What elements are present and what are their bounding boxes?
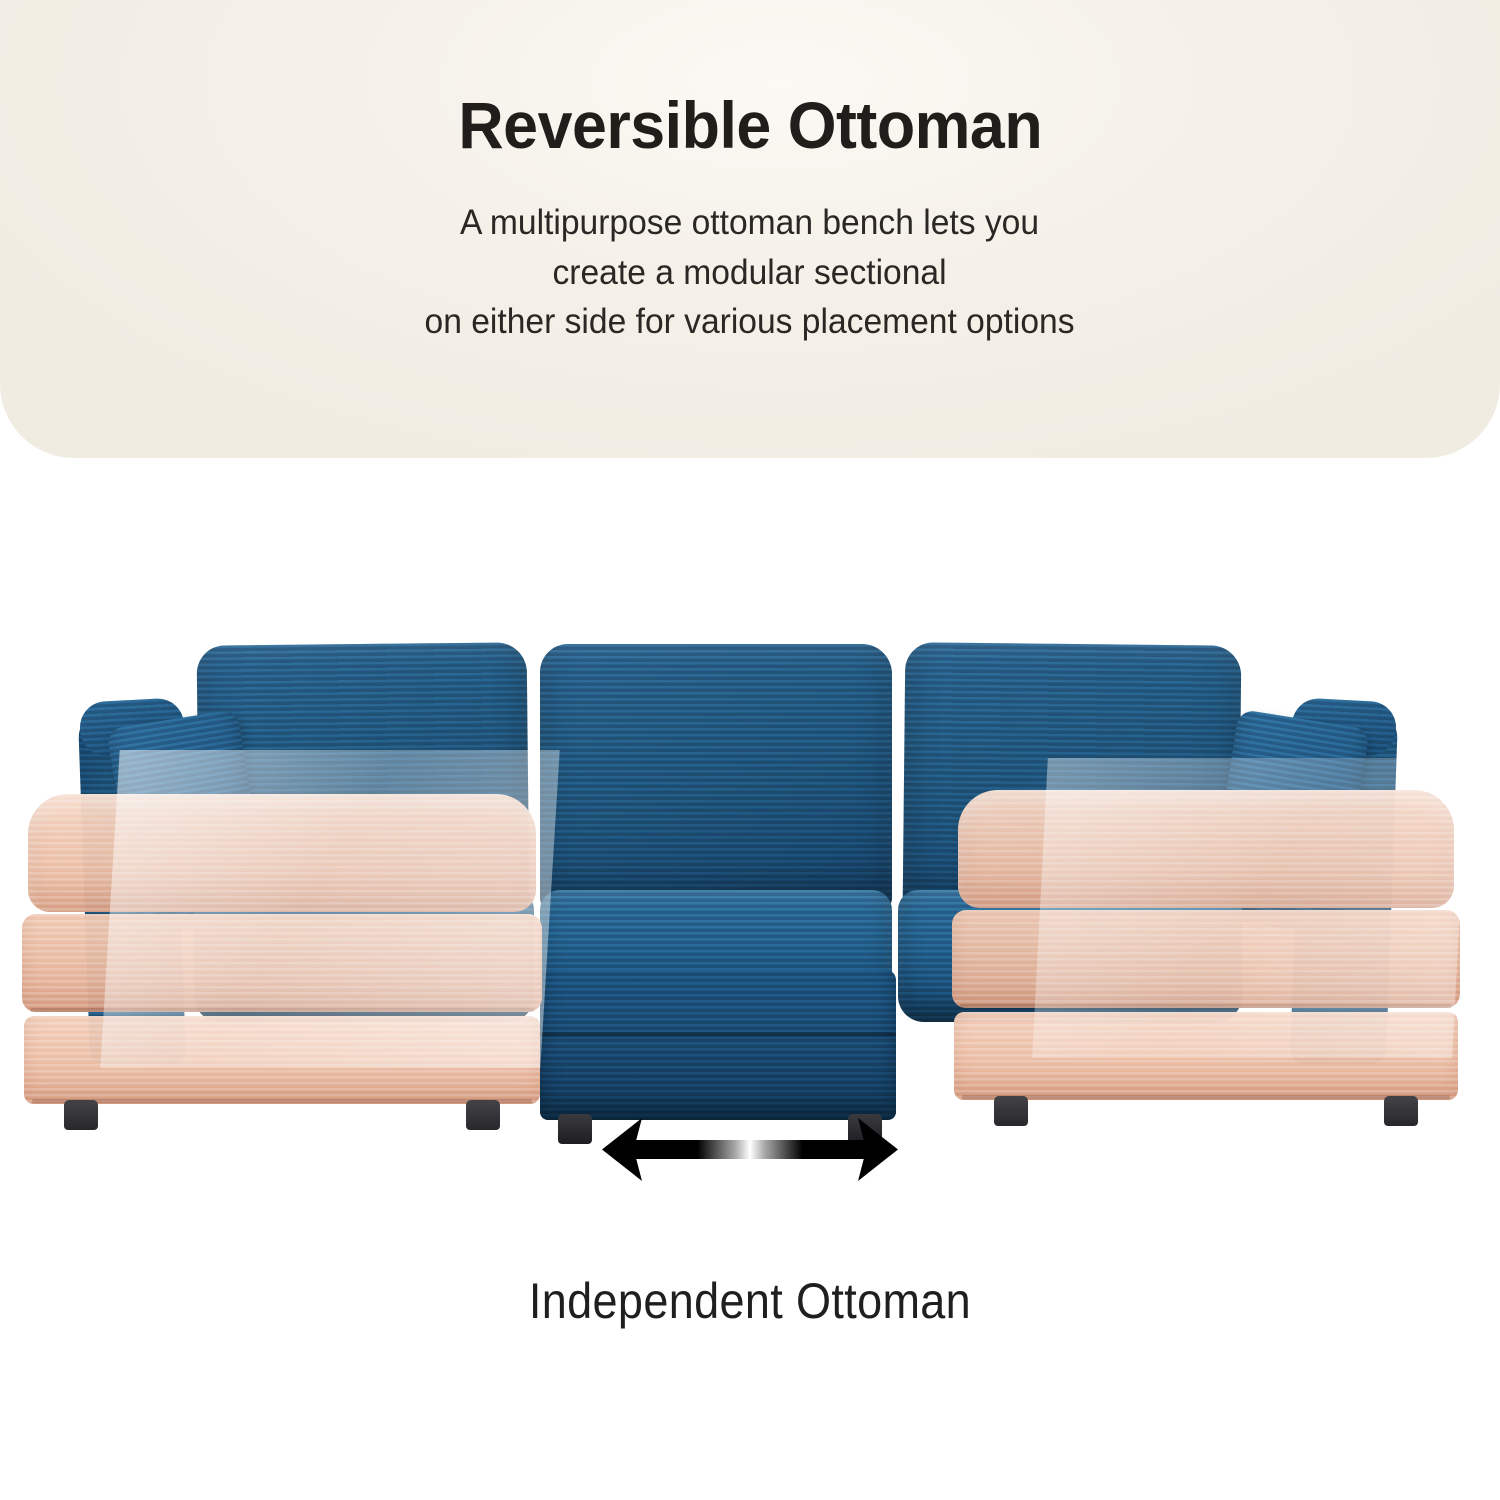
subtitle-line-1: A multipurpose ottoman bench lets you [425,198,1075,248]
ottoman-right-seam-upper [960,1004,1452,1008]
ottoman-right-foot-right [1384,1096,1418,1126]
sofa-back-cushion-center [540,644,892,912]
ottoman-left-top-cushion [28,794,536,912]
ottoman-right-seam-lower [962,1095,1450,1099]
sofa-foot-left [558,1114,592,1144]
subtitle-line-2: create a modular sectional [425,248,1075,298]
page-title: Reversible Ottoman [458,92,1042,158]
product-image-stage [0,458,1500,1278]
ottoman-left-foot-right [466,1100,500,1130]
header-banner-content: Reversible Ottoman A multipurpose ottoma… [0,0,1500,458]
sofa-base-seam [540,1032,896,1037]
ottoman-right-base [954,1012,1458,1100]
ottoman-left-seam-upper [30,1008,534,1012]
ottoman-left-base [24,1016,540,1104]
bidirectional-placement-arrow [600,1108,900,1192]
ottoman-left-foot-left [64,1100,98,1130]
ottoman-left-seam-lower [32,1099,532,1103]
reversible-ottoman-right [952,790,1460,1134]
reversible-ottoman-left [22,794,542,1134]
subtitle-line-3: on either side for various placement opt… [425,297,1075,347]
header-banner: Reversible Ottoman A multipurpose ottoma… [0,0,1500,458]
ottoman-right-middle-cushion [952,910,1460,1008]
ottoman-left-middle-cushion [22,914,542,1012]
ottoman-right-top-cushion [958,790,1454,908]
page-subtitle: A multipurpose ottoman bench lets you cr… [425,198,1075,347]
ottoman-right-foot-left [994,1096,1028,1126]
product-caption: Independent Ottoman [75,1272,1425,1330]
sofa-base-plinth [540,970,896,1120]
